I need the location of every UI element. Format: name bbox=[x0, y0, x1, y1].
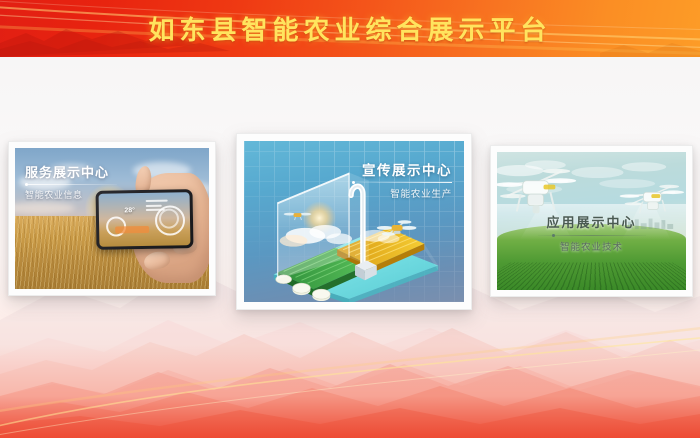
hud-bar bbox=[146, 200, 168, 202]
panel-service-image: 28° 服务展示中心 智能农业信息 bbox=[15, 148, 209, 289]
page-title: 如东县智能农业综合展示平台 bbox=[0, 0, 700, 57]
drone-large-left bbox=[497, 169, 576, 213]
caption-divider bbox=[25, 184, 117, 185]
panel-service-subtitle: 智能农业信息 bbox=[25, 188, 117, 201]
drone-small-right bbox=[620, 185, 684, 214]
panel-service-caption: 服务展示中心 智能农业信息 bbox=[25, 162, 117, 201]
panel-service-display-center[interactable]: 28° 服务展示中心 智能农业信息 bbox=[8, 141, 216, 296]
caption-divider bbox=[352, 182, 452, 183]
panel-promotion-subtitle: 智能农业生产 bbox=[352, 186, 452, 200]
panel-application-title: 应用展示中心 bbox=[538, 212, 646, 231]
panel-promotion-caption: 宣传展示中心 智能农业生产 bbox=[352, 159, 452, 200]
header-banner: 如东县智能农业综合展示平台 bbox=[0, 0, 700, 57]
hud-panel bbox=[116, 226, 150, 234]
hud-bar bbox=[147, 205, 163, 207]
temperature-readout: 28° bbox=[125, 208, 136, 215]
panel-service-title: 服务展示中心 bbox=[25, 162, 117, 181]
bottom-light-streaks bbox=[0, 318, 700, 438]
caption-divider bbox=[538, 235, 646, 236]
panel-promotion-title: 宣传展示中心 bbox=[352, 159, 452, 179]
panel-promotion-image: 宣传展示中心 智能农业生产 bbox=[244, 141, 464, 302]
platform-showcase-page: 如东县智能农业综合展示平台 bbox=[0, 0, 700, 438]
panel-application-caption: 应用展示中心 智能农业技术 bbox=[538, 212, 646, 253]
drone-right bbox=[377, 220, 417, 235]
panel-application-display-center[interactable]: 应用展示中心 智能农业技术 bbox=[490, 145, 693, 297]
panel-application-subtitle: 智能农业技术 bbox=[538, 239, 646, 253]
panel-promotion-display-center[interactable]: 宣传展示中心 智能农业生产 bbox=[236, 133, 472, 310]
panel-application-image: 应用展示中心 智能农业技术 bbox=[497, 152, 686, 290]
